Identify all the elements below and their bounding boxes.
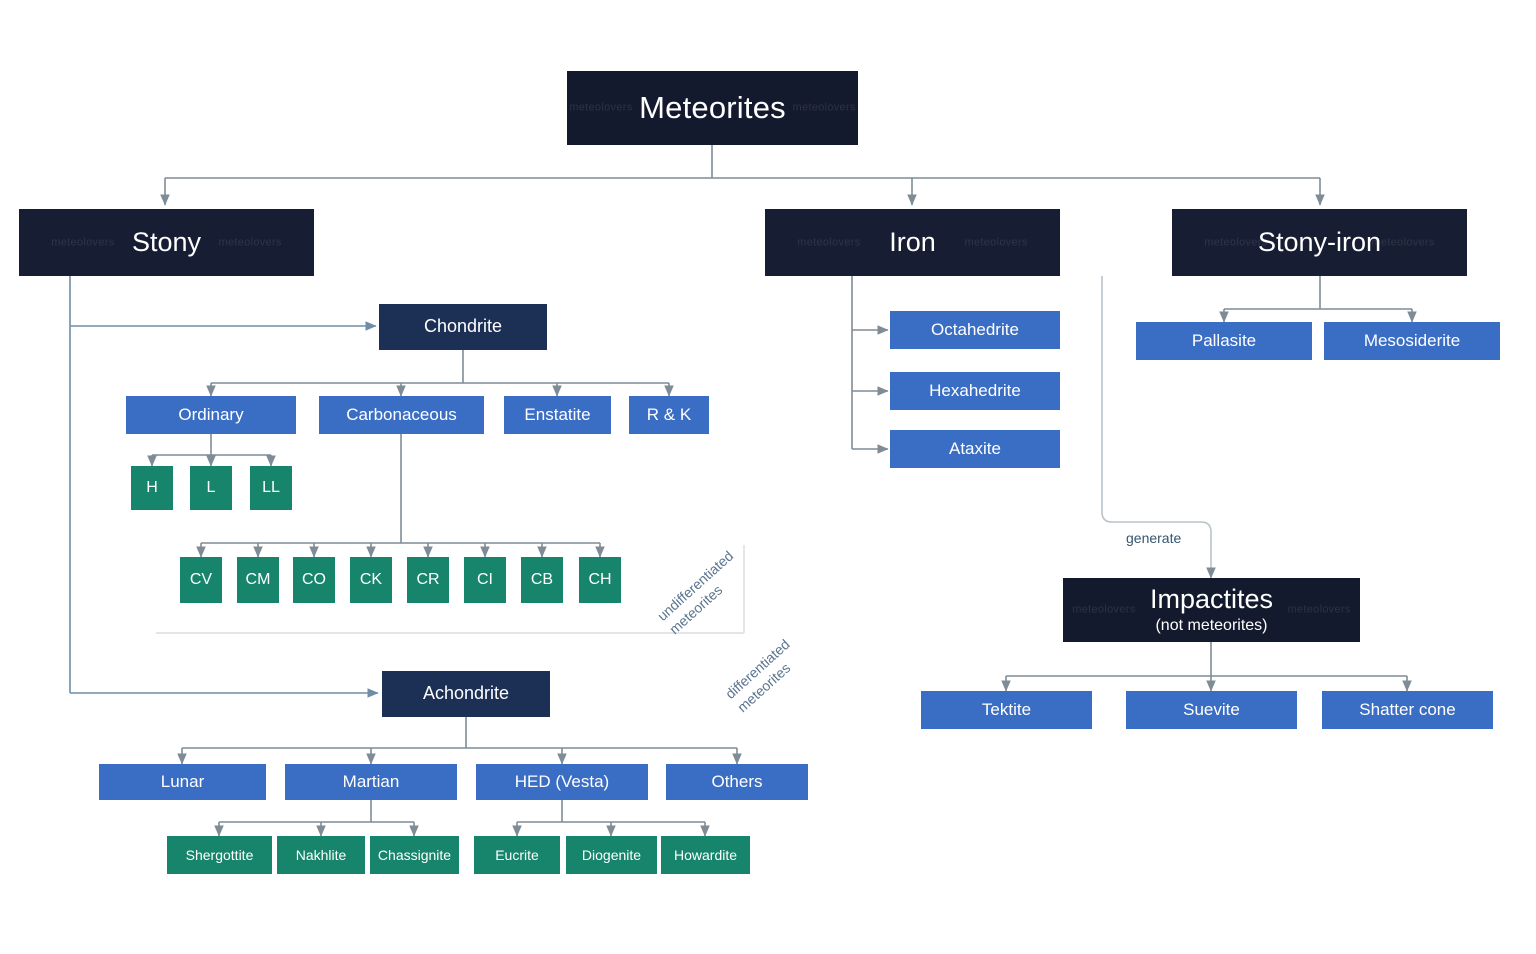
node-label: Hexahedrite — [929, 381, 1021, 401]
node-sublabel: (not meteorites) — [1155, 617, 1267, 636]
node-label: Shatter cone — [1359, 700, 1455, 720]
watermark-right: meteolovers — [1288, 604, 1351, 617]
meteorite-classification-diagram: meteolovers meteolovers Meteorites meteo… — [0, 0, 1536, 954]
node-label: CB — [531, 571, 553, 590]
node-ataxite[interactable]: Ataxite — [890, 430, 1060, 468]
node-carbonaceous[interactable]: Carbonaceous — [319, 396, 484, 434]
node-shergottite[interactable]: Shergottite — [167, 836, 272, 874]
edge-label-generate: generate — [1126, 530, 1181, 546]
node-label: Carbonaceous — [346, 405, 457, 425]
node-label: CO — [302, 571, 326, 590]
node-label: HED (Vesta) — [515, 772, 609, 792]
node-label: Ataxite — [949, 439, 1001, 459]
node-label: Nakhlite — [296, 847, 347, 864]
node-eucrite[interactable]: Eucrite — [474, 836, 560, 874]
node-label: Tektite — [982, 700, 1031, 720]
node-label: Ordinary — [178, 405, 243, 425]
node-enstatite[interactable]: Enstatite — [504, 396, 611, 434]
node-label: Eucrite — [495, 847, 539, 864]
node-lunar[interactable]: Lunar — [99, 764, 266, 800]
node-ck[interactable]: CK — [350, 557, 392, 603]
node-label: Chassignite — [378, 847, 451, 864]
node-pallasite[interactable]: Pallasite — [1136, 322, 1312, 360]
node-iron[interactable]: meteolovers meteolovers Iron — [765, 209, 1060, 276]
node-label: Iron — [889, 227, 936, 259]
node-label: Meteorites — [639, 90, 786, 127]
node-label: CR — [416, 571, 439, 590]
node-cv[interactable]: CV — [180, 557, 222, 603]
node-ll[interactable]: LL — [250, 466, 292, 510]
node-label: Stony — [132, 227, 201, 259]
node-h[interactable]: H — [131, 466, 173, 510]
node-label: Achondrite — [423, 683, 509, 704]
node-stony[interactable]: meteolovers meteolovers Stony — [19, 209, 314, 276]
annotation-differentiated-meteorites: differentiated meteorites — [722, 636, 805, 716]
node-cb[interactable]: CB — [521, 557, 563, 603]
node-ch[interactable]: CH — [579, 557, 621, 603]
node-label: Mesosiderite — [1364, 331, 1460, 351]
node-co[interactable]: CO — [293, 557, 335, 603]
node-label: Octahedrite — [931, 320, 1019, 340]
node-chondrite[interactable]: Chondrite — [379, 304, 547, 350]
node-label: Martian — [343, 772, 400, 792]
node-shatter-cone[interactable]: Shatter cone — [1322, 691, 1493, 729]
node-octahedrite[interactable]: Octahedrite — [890, 311, 1060, 349]
node-ordinary[interactable]: Ordinary — [126, 396, 296, 434]
node-label: Enstatite — [524, 405, 590, 425]
watermark-right: meteolovers — [219, 236, 282, 249]
node-label: CK — [360, 571, 382, 590]
watermark-left: meteolovers — [51, 236, 114, 249]
node-mesosiderite[interactable]: Mesosiderite — [1324, 322, 1500, 360]
node-martian[interactable]: Martian — [285, 764, 457, 800]
node-suevite[interactable]: Suevite — [1126, 691, 1297, 729]
node-ci[interactable]: CI — [464, 557, 506, 603]
node-cm[interactable]: CM — [237, 557, 279, 603]
node-label: LL — [262, 479, 280, 498]
node-impactites[interactable]: meteolovers meteolovers Impactites (not … — [1063, 578, 1360, 642]
node-label: CI — [477, 571, 493, 590]
node-l[interactable]: L — [190, 466, 232, 510]
node-label: CH — [588, 571, 611, 590]
node-nakhlite[interactable]: Nakhlite — [277, 836, 365, 874]
node-stony-iron[interactable]: meteolovers meteolovers Stony-iron — [1172, 209, 1467, 276]
node-label: L — [207, 479, 216, 498]
node-meteorites[interactable]: meteolovers meteolovers Meteorites — [567, 71, 858, 145]
node-hed-vesta[interactable]: HED (Vesta) — [476, 764, 648, 800]
node-others[interactable]: Others — [666, 764, 808, 800]
node-howardite[interactable]: Howardite — [661, 836, 750, 874]
node-label: CV — [190, 571, 212, 590]
node-label: R & K — [647, 405, 691, 425]
node-label: Lunar — [161, 772, 204, 792]
watermark-left: meteolovers — [1072, 604, 1135, 617]
node-label: Others — [711, 772, 762, 792]
node-cr[interactable]: CR — [407, 557, 449, 603]
node-label: Shergottite — [186, 847, 254, 864]
watermark-left: meteolovers — [797, 236, 860, 249]
node-tektite[interactable]: Tektite — [921, 691, 1092, 729]
node-label: Pallasite — [1192, 331, 1256, 351]
node-r-and-k[interactable]: R & K — [629, 396, 709, 434]
node-label: Impactites — [1150, 584, 1273, 616]
node-label: CM — [246, 571, 271, 590]
watermark-right: meteolovers — [793, 102, 856, 115]
node-label: Diogenite — [582, 847, 641, 864]
watermark-right: meteolovers — [965, 236, 1028, 249]
annotation-undifferentiated-meteorites: undifferentiated meteorites — [654, 548, 749, 638]
node-label: Howardite — [674, 847, 737, 864]
node-diogenite[interactable]: Diogenite — [566, 836, 657, 874]
node-achondrite[interactable]: Achondrite — [382, 671, 550, 717]
node-label: Stony-iron — [1258, 227, 1381, 259]
node-chassignite[interactable]: Chassignite — [370, 836, 459, 874]
watermark-left: meteolovers — [569, 102, 632, 115]
node-label: Chondrite — [424, 316, 502, 337]
node-label: H — [146, 479, 158, 498]
node-hexahedrite[interactable]: Hexahedrite — [890, 372, 1060, 410]
node-label: Suevite — [1183, 700, 1240, 720]
